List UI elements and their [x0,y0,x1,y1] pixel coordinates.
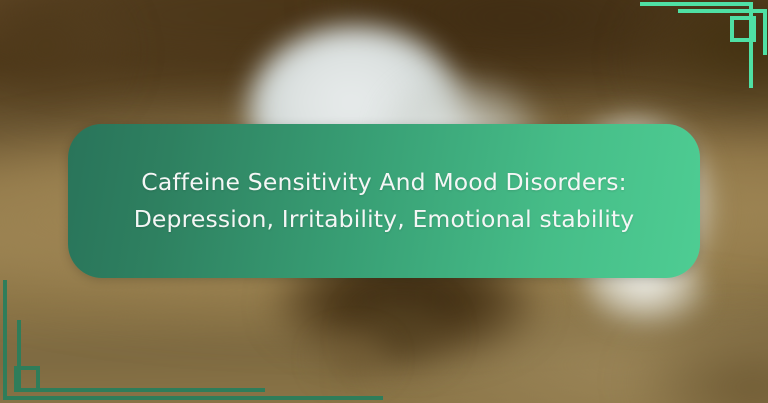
frame-square-bottom-left [14,366,40,392]
frame-line-vertical-outer-bl [3,280,7,399]
title-line-1: Caffeine Sensitivity And Mood Disorders: [141,164,626,201]
frame-line-vertical-outer [763,9,767,55]
frame-line-horizontal-inner-bl [17,388,265,392]
background-shadow-top-left [0,0,120,110]
frame-line-vertical-inner [749,2,753,88]
frame-square-top-right [730,16,756,42]
title-banner: Caffeine Sensitivity And Mood Disorders:… [68,124,700,278]
background-dark-speck [318,335,388,380]
frame-line-horizontal-outer-bl [3,396,383,400]
title-line-2: Depression, Irritability, Emotional stab… [134,201,635,238]
hero-card: Caffeine Sensitivity And Mood Disorders:… [0,0,768,403]
frame-line-horizontal-outer [640,2,753,6]
